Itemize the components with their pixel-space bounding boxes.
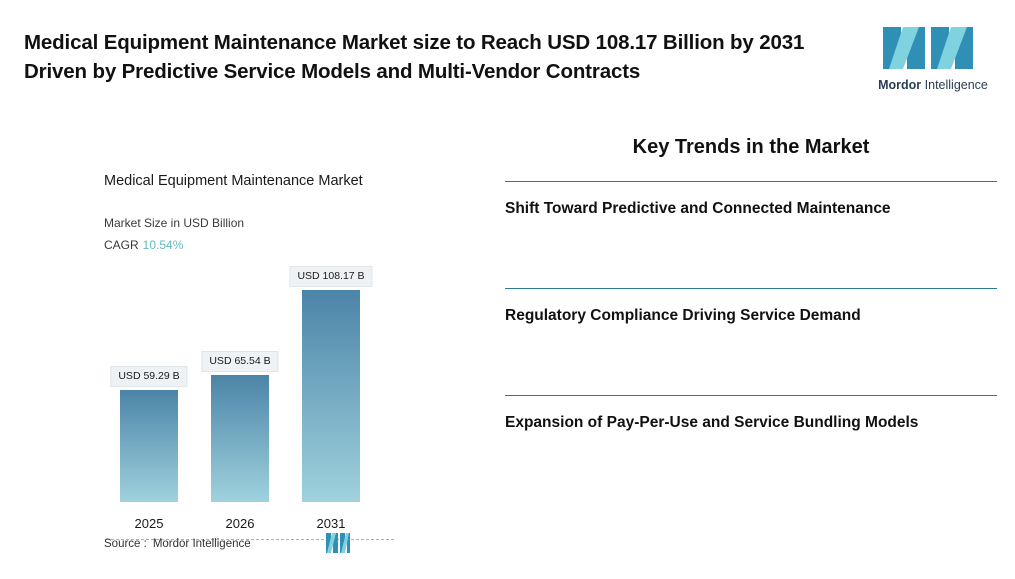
chart-panel: Medical Equipment Maintenance Market Mar… <box>0 150 470 570</box>
mordor-watermark-icon <box>325 532 351 554</box>
chart-source: Source :Mordor Intelligence <box>104 538 251 550</box>
chart-cagr: CAGR10.54% <box>104 238 183 252</box>
bar-value-label-2026: USD 65.54 B <box>201 351 278 372</box>
bar-2026 <box>211 375 269 502</box>
x-axis-tick-2031: 2031 <box>291 516 371 531</box>
key-trends-title: Key Trends in the Market <box>505 136 997 159</box>
bar-value-label-2025: USD 59.29 B <box>110 366 187 387</box>
brand-name-secondary: Intelligence <box>921 78 988 92</box>
x-axis-tick-2026: 2026 <box>200 516 280 531</box>
brand-logo: Mordor Intelligence <box>873 22 993 92</box>
bar-value-label-2031: USD 108.17 B <box>289 266 372 287</box>
cagr-value: 10.54% <box>143 238 184 252</box>
mordor-logo-icon <box>873 22 993 74</box>
trend-item-3: Expansion of Pay-Per-Use and Service Bun… <box>505 395 997 492</box>
trend-item-1: Shift Toward Predictive and Connected Ma… <box>505 181 997 288</box>
bar-2031 <box>302 290 360 502</box>
brand-name-primary: Mordor <box>878 78 921 92</box>
bar-2025 <box>120 390 178 502</box>
page-title: Medical Equipment Maintenance Market siz… <box>24 28 854 86</box>
trend-item-3-label: Expansion of Pay-Per-Use and Service Bun… <box>505 414 918 431</box>
trend-item-2: Regulatory Compliance Driving Service De… <box>505 288 997 395</box>
source-value: Mordor Intelligence <box>153 538 251 550</box>
trend-item-2-label: Regulatory Compliance Driving Service De… <box>505 307 861 324</box>
bar-chart-plot: USD 59.29 B USD 65.54 B USD 108.17 B 202… <box>100 255 400 555</box>
source-label: Source : <box>104 538 147 550</box>
chart-subtitle: Market Size in USD Billion <box>104 216 244 230</box>
chart-title: Medical Equipment Maintenance Market <box>104 172 404 192</box>
trend-item-1-label: Shift Toward Predictive and Connected Ma… <box>505 200 891 217</box>
x-axis-tick-2025: 2025 <box>109 516 189 531</box>
cagr-label: CAGR <box>104 238 139 252</box>
brand-name: Mordor Intelligence <box>873 78 993 92</box>
key-trends-panel: Key Trends in the Market Shift Toward Pr… <box>505 136 997 492</box>
page-root: Medical Equipment Maintenance Market siz… <box>0 0 1015 579</box>
